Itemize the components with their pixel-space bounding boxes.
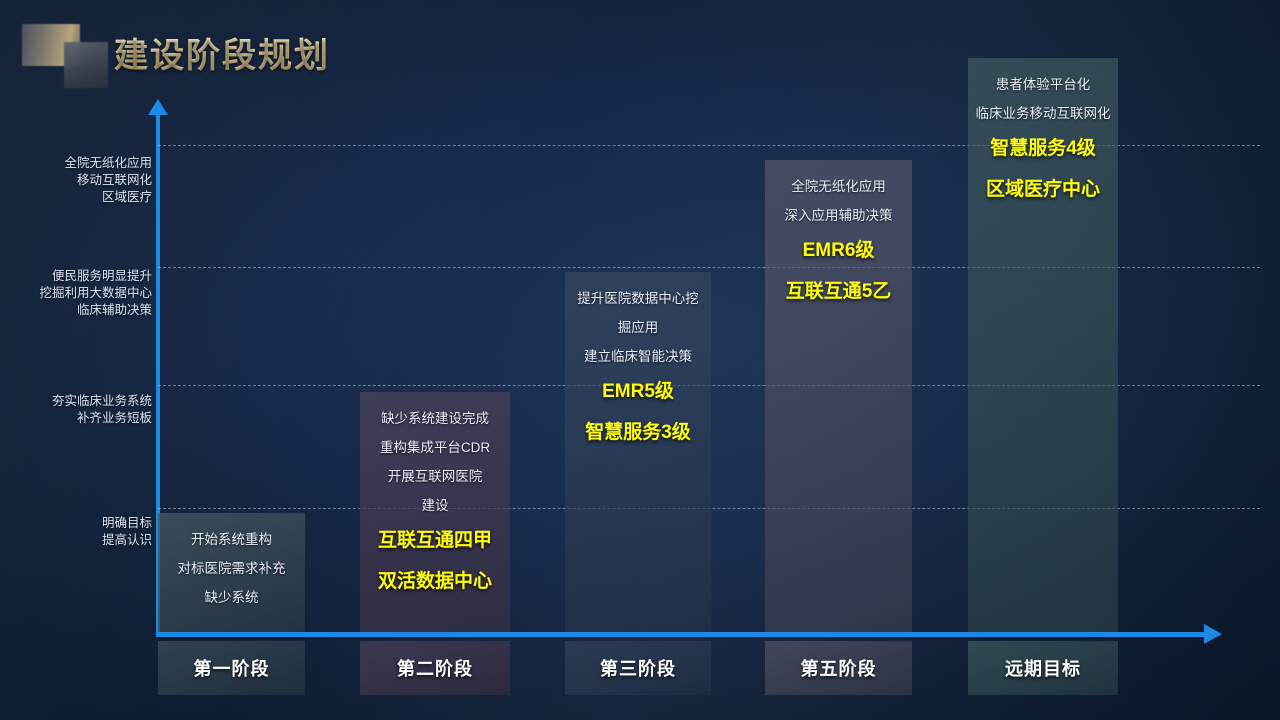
y-axis-label-1-line-1: 全院无纸化应用 — [0, 155, 152, 172]
stage-footer-3[interactable]: 第三阶段 — [565, 641, 711, 695]
stage-bar-4[interactable]: 全院无纸化应用 深入应用辅助决策 EMR6级 互联互通5乙 — [765, 160, 912, 632]
y-axis-label-2-line-3: 临床辅助决策 — [0, 302, 152, 319]
stage-5-desc-1: 患者体验平台化 — [974, 70, 1112, 99]
stage-4-highlight-2: 互联互通5乙 — [771, 271, 906, 312]
stage-4-desc-2: 深入应用辅助决策 — [771, 201, 906, 230]
y-axis-label-1-line-3: 区域医疗 — [0, 189, 152, 206]
stage-1-content: 开始系统重构 对标医院需求补充 缺少系统 — [158, 513, 305, 612]
slide-canvas: 建设阶段规划 全院无纸化应用 移动互联网化 区域医疗 便民服务明显提升 挖掘利用… — [0, 0, 1280, 720]
stage-3-desc-3: 建立临床智能决策 — [571, 342, 705, 371]
stage-3-highlight-2: 智慧服务3级 — [571, 412, 705, 453]
stage-3-content: 提升医院数据中心挖 掘应用 建立临床智能决策 EMR5级 智慧服务3级 — [565, 272, 711, 453]
y-axis-label-1-line-2: 移动互联网化 — [0, 172, 152, 189]
stage-footer-4-label: 第五阶段 — [801, 655, 877, 681]
x-axis — [156, 632, 1208, 637]
stage-footer-2[interactable]: 第二阶段 — [360, 641, 510, 695]
stage-2-content: 缺少系统建设完成 重构集成平台CDR 开展互联网医院 建设 互联互通四甲 双活数… — [360, 392, 510, 602]
stage-2-highlight-1: 互联互通四甲 — [366, 520, 504, 561]
stage-2-desc-2: 重构集成平台CDR — [366, 433, 504, 462]
page-title: 建设阶段规划 — [114, 28, 330, 77]
y-axis-label-2-line-1: 便民服务明显提升 — [0, 268, 152, 285]
stage-bar-5[interactable]: 患者体验平台化 临床业务移动互联网化 智慧服务4级 区域医疗中心 — [968, 58, 1118, 632]
stage-footer-5[interactable]: 远期目标 — [968, 641, 1118, 695]
y-axis-label-4: 明确目标 提高认识 — [0, 515, 152, 549]
y-axis-label-4-line-2: 提高认识 — [0, 532, 152, 549]
stage-footer-3-label: 第三阶段 — [600, 655, 676, 681]
logo-shape-lower — [64, 42, 108, 88]
stage-footer-5-label: 远期目标 — [1005, 655, 1081, 681]
stage-footer-2-label: 第二阶段 — [397, 655, 473, 681]
decorative-logo — [22, 20, 112, 90]
stage-1-desc-1: 开始系统重构 — [164, 525, 299, 554]
y-axis-label-2: 便民服务明显提升 挖掘利用大数据中心 临床辅助决策 — [0, 268, 152, 319]
stage-footer-1-label: 第一阶段 — [194, 655, 270, 681]
y-axis-label-3-line-1: 夯实临床业务系统 — [0, 393, 152, 410]
stage-4-highlight-1: EMR6级 — [771, 230, 906, 271]
stage-1-desc-2: 对标医院需求补充 — [164, 554, 299, 583]
stage-bar-1[interactable]: 开始系统重构 对标医院需求补充 缺少系统 — [158, 513, 305, 632]
stage-footer-1[interactable]: 第一阶段 — [158, 641, 305, 695]
stage-3-desc-1: 提升医院数据中心挖 — [571, 284, 705, 313]
y-axis-label-3: 夯实临床业务系统 补齐业务短板 — [0, 393, 152, 427]
stage-5-desc-2: 临床业务移动互联网化 — [974, 99, 1112, 128]
stage-footer-4[interactable]: 第五阶段 — [765, 641, 912, 695]
y-axis-label-1: 全院无纸化应用 移动互联网化 区域医疗 — [0, 155, 152, 206]
stage-5-content: 患者体验平台化 临床业务移动互联网化 智慧服务4级 区域医疗中心 — [968, 58, 1118, 210]
stage-3-desc-2: 掘应用 — [571, 313, 705, 342]
stage-3-highlight-1: EMR5级 — [571, 371, 705, 412]
x-axis-arrow-icon — [1204, 624, 1222, 644]
stage-2-highlight-2: 双活数据中心 — [366, 561, 504, 602]
stage-1-desc-3: 缺少系统 — [164, 583, 299, 612]
y-axis-label-2-line-2: 挖掘利用大数据中心 — [0, 285, 152, 302]
stage-4-content: 全院无纸化应用 深入应用辅助决策 EMR6级 互联互通5乙 — [765, 160, 912, 312]
stage-5-highlight-1: 智慧服务4级 — [974, 128, 1112, 169]
stage-2-desc-4: 建设 — [366, 491, 504, 520]
stage-4-desc-1: 全院无纸化应用 — [771, 172, 906, 201]
stage-2-desc-1: 缺少系统建设完成 — [366, 404, 504, 433]
stage-2-desc-3: 开展互联网医院 — [366, 462, 504, 491]
y-axis-label-3-line-2: 补齐业务短板 — [0, 410, 152, 427]
stage-5-highlight-2: 区域医疗中心 — [974, 169, 1112, 210]
stage-bar-2[interactable]: 缺少系统建设完成 重构集成平台CDR 开展互联网医院 建设 互联互通四甲 双活数… — [360, 392, 510, 632]
stage-bar-3[interactable]: 提升医院数据中心挖 掘应用 建立临床智能决策 EMR5级 智慧服务3级 — [565, 272, 711, 632]
y-axis-label-4-line-1: 明确目标 — [0, 515, 152, 532]
